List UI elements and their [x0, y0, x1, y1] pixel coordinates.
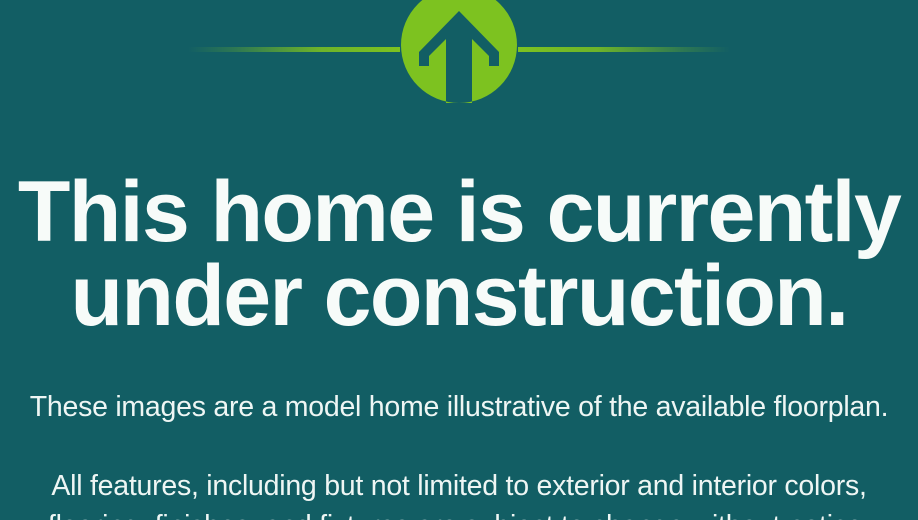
- divider-rule-right: [518, 47, 730, 52]
- under-construction-banner: This home is currently under constructio…: [0, 0, 918, 520]
- up-arrow-in-circle-logo-icon: [401, 0, 517, 103]
- disclaimer-paragraph-features: All features, including but not limited …: [0, 466, 918, 520]
- divider-rule-left: [188, 47, 400, 52]
- page-title: This home is currently under constructio…: [0, 170, 918, 339]
- disclaimer-paragraph-model-home: These images are a model home illustrati…: [0, 387, 918, 427]
- logo-divider-row: [0, 0, 918, 96]
